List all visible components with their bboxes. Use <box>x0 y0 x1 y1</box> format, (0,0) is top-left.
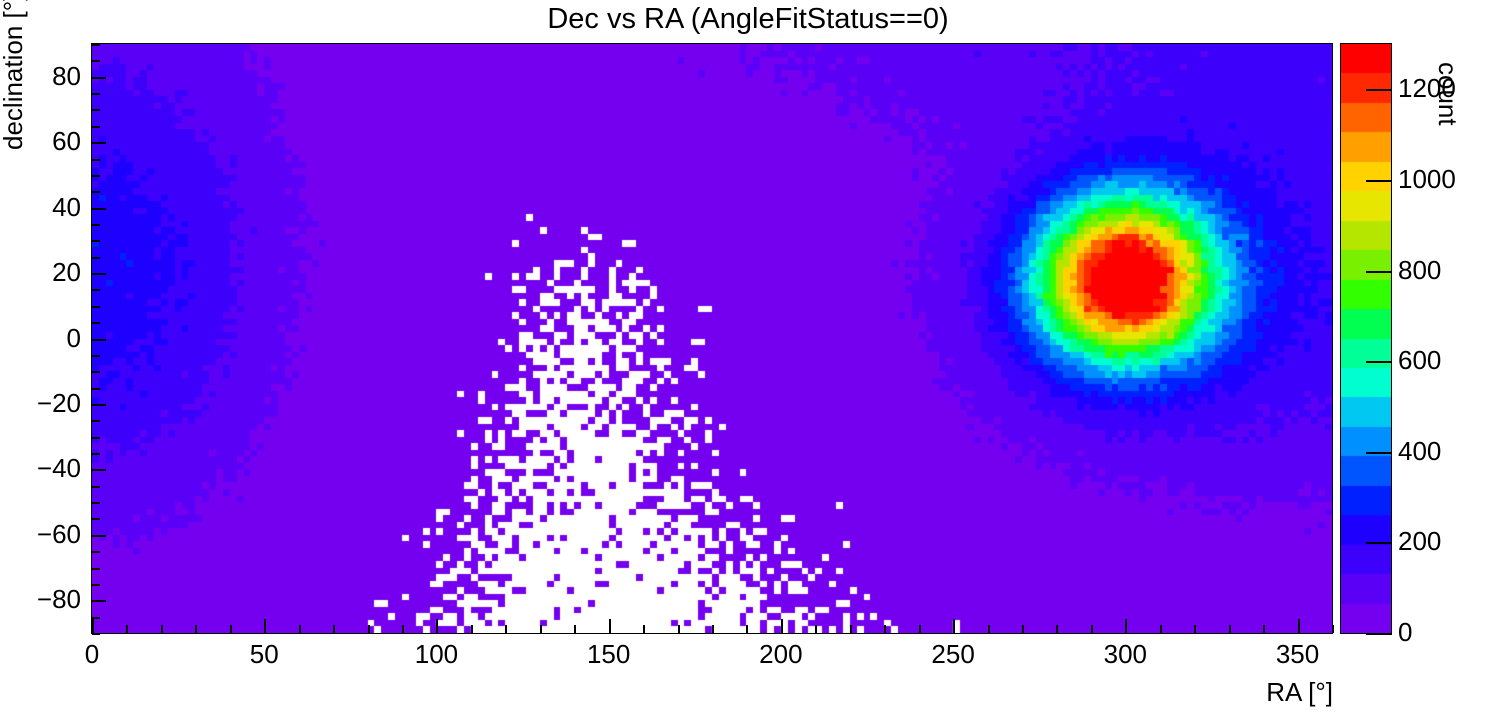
x-axis-minor-tick <box>919 625 921 633</box>
y-axis-tick-label: 40 <box>0 194 81 220</box>
x-axis-minor-tick <box>574 625 576 633</box>
colorbar-tick-label: 1000 <box>1398 166 1456 192</box>
colorbar-tick <box>1366 542 1392 544</box>
colorbar-tick <box>1366 633 1392 635</box>
x-axis-minor-tick <box>1332 625 1334 633</box>
x-axis-tick-label: 50 <box>204 641 324 667</box>
colorbar <box>1340 43 1392 634</box>
x-axis-tick <box>264 619 266 633</box>
page-title: Dec vs RA (AngleFitStatus==0) <box>0 2 1496 36</box>
x-axis-minor-tick <box>712 625 714 633</box>
y-axis-minor-tick <box>92 388 100 390</box>
y-axis-minor-tick <box>92 437 100 439</box>
y-axis-minor-tick <box>92 568 100 570</box>
x-axis-minor-tick <box>471 625 473 633</box>
x-axis-minor-tick <box>1263 625 1265 633</box>
y-axis-minor-tick <box>92 617 100 619</box>
x-axis-tick <box>436 619 438 633</box>
histogram-canvas <box>92 44 1332 633</box>
y-axis-minor-tick <box>92 322 100 324</box>
y-axis-minor-tick <box>92 224 100 226</box>
y-axis-minor-tick <box>92 584 100 586</box>
x-axis-tick-label: 200 <box>721 641 841 667</box>
colorbar-title: count <box>1432 62 1463 126</box>
x-axis-tick-label: 350 <box>1238 641 1358 667</box>
y-axis-tick <box>92 77 106 79</box>
y-axis-tick <box>92 339 106 341</box>
y-axis-minor-tick <box>92 175 100 177</box>
y-axis-tick-label: −40 <box>0 455 81 481</box>
x-axis-minor-tick <box>230 625 232 633</box>
colorbar-tick <box>1366 180 1392 182</box>
y-axis-minor-tick <box>92 289 100 291</box>
plot-root: Dec vs RA (AngleFitStatus==0) 0501001502… <box>0 0 1496 722</box>
x-axis-minor-tick <box>540 625 542 633</box>
colorbar-tick-label: 0 <box>1398 619 1412 645</box>
y-axis-tick-label: −80 <box>0 586 81 612</box>
y-axis-tick <box>92 535 106 537</box>
y-axis-minor-tick <box>92 518 100 520</box>
y-axis-minor-tick <box>92 420 100 422</box>
y-axis-minor-tick <box>92 93 100 95</box>
x-axis-minor-tick <box>1229 625 1231 633</box>
x-axis-minor-tick <box>195 625 197 633</box>
x-axis-tick-label: 250 <box>893 641 1013 667</box>
y-axis-tick-label: −60 <box>0 521 81 547</box>
colorbar-tick <box>1366 89 1392 91</box>
x-axis-tick-label: 300 <box>1065 641 1185 667</box>
y-axis-tick <box>92 142 106 144</box>
y-axis-minor-tick <box>92 551 100 553</box>
y-axis-minor-tick <box>92 60 100 62</box>
x-axis-minor-tick <box>161 625 163 633</box>
y-axis-minor-tick <box>92 109 100 111</box>
x-axis-tick-label: 150 <box>549 641 669 667</box>
x-axis-tick-label: 0 <box>32 641 152 667</box>
y-axis-tick <box>92 404 106 406</box>
plot-frame <box>91 43 1333 634</box>
y-axis-minor-tick <box>92 240 100 242</box>
y-axis-minor-tick <box>92 355 100 357</box>
colorbar-tick-label: 800 <box>1398 257 1441 283</box>
x-axis-tick <box>1125 619 1127 633</box>
x-axis-tick-label: 100 <box>376 641 496 667</box>
colorbar-tick-label: 400 <box>1398 438 1441 464</box>
y-axis-tick <box>92 600 106 602</box>
x-axis-title: RA [°] <box>1266 677 1333 708</box>
y-axis-minor-tick <box>92 633 100 635</box>
y-axis-tick <box>92 208 106 210</box>
y-axis-minor-tick <box>92 453 100 455</box>
x-axis-tick <box>1298 619 1300 633</box>
y-axis-title: declination [°] <box>0 0 29 150</box>
x-axis-minor-tick <box>402 625 404 633</box>
x-axis-minor-tick <box>884 625 886 633</box>
x-axis-minor-tick <box>1160 625 1162 633</box>
x-axis-minor-tick <box>850 625 852 633</box>
y-axis-minor-tick <box>92 44 100 46</box>
y-axis-tick-label: 0 <box>0 325 81 351</box>
colorbar-tick <box>1366 452 1392 454</box>
x-axis-minor-tick <box>505 625 507 633</box>
y-axis-minor-tick <box>92 126 100 128</box>
y-axis-tick-label: 20 <box>0 259 81 285</box>
colorbar-tick-label: 600 <box>1398 347 1441 373</box>
x-axis-minor-tick <box>746 625 748 633</box>
x-axis-minor-tick <box>643 625 645 633</box>
x-axis-tick <box>92 619 94 633</box>
x-axis-minor-tick <box>1194 625 1196 633</box>
x-axis-minor-tick <box>333 625 335 633</box>
colorbar-tick-label: 200 <box>1398 528 1441 554</box>
x-axis-tick <box>953 619 955 633</box>
x-axis-minor-tick <box>678 625 680 633</box>
colorbar-tick <box>1366 271 1392 273</box>
x-axis-minor-tick <box>1056 625 1058 633</box>
y-axis-minor-tick <box>92 486 100 488</box>
y-axis-minor-tick <box>92 371 100 373</box>
colorbar-tick <box>1366 361 1392 363</box>
y-axis-minor-tick <box>92 502 100 504</box>
y-axis-minor-tick <box>92 191 100 193</box>
x-axis-minor-tick <box>1091 625 1093 633</box>
y-axis-tick <box>92 469 106 471</box>
x-axis-minor-tick <box>368 625 370 633</box>
x-axis-minor-tick <box>126 625 128 633</box>
y-axis-minor-tick <box>92 257 100 259</box>
x-axis-minor-tick <box>1022 625 1024 633</box>
x-axis-tick <box>781 619 783 633</box>
x-axis-minor-tick <box>815 625 817 633</box>
x-axis-minor-tick <box>299 625 301 633</box>
x-axis-tick <box>609 619 611 633</box>
colorbar-canvas <box>1341 44 1391 633</box>
y-axis-tick <box>92 273 106 275</box>
x-axis-minor-tick <box>988 625 990 633</box>
y-axis-minor-tick <box>92 306 100 308</box>
y-axis-tick-label: −20 <box>0 390 81 416</box>
y-axis-minor-tick <box>92 159 100 161</box>
